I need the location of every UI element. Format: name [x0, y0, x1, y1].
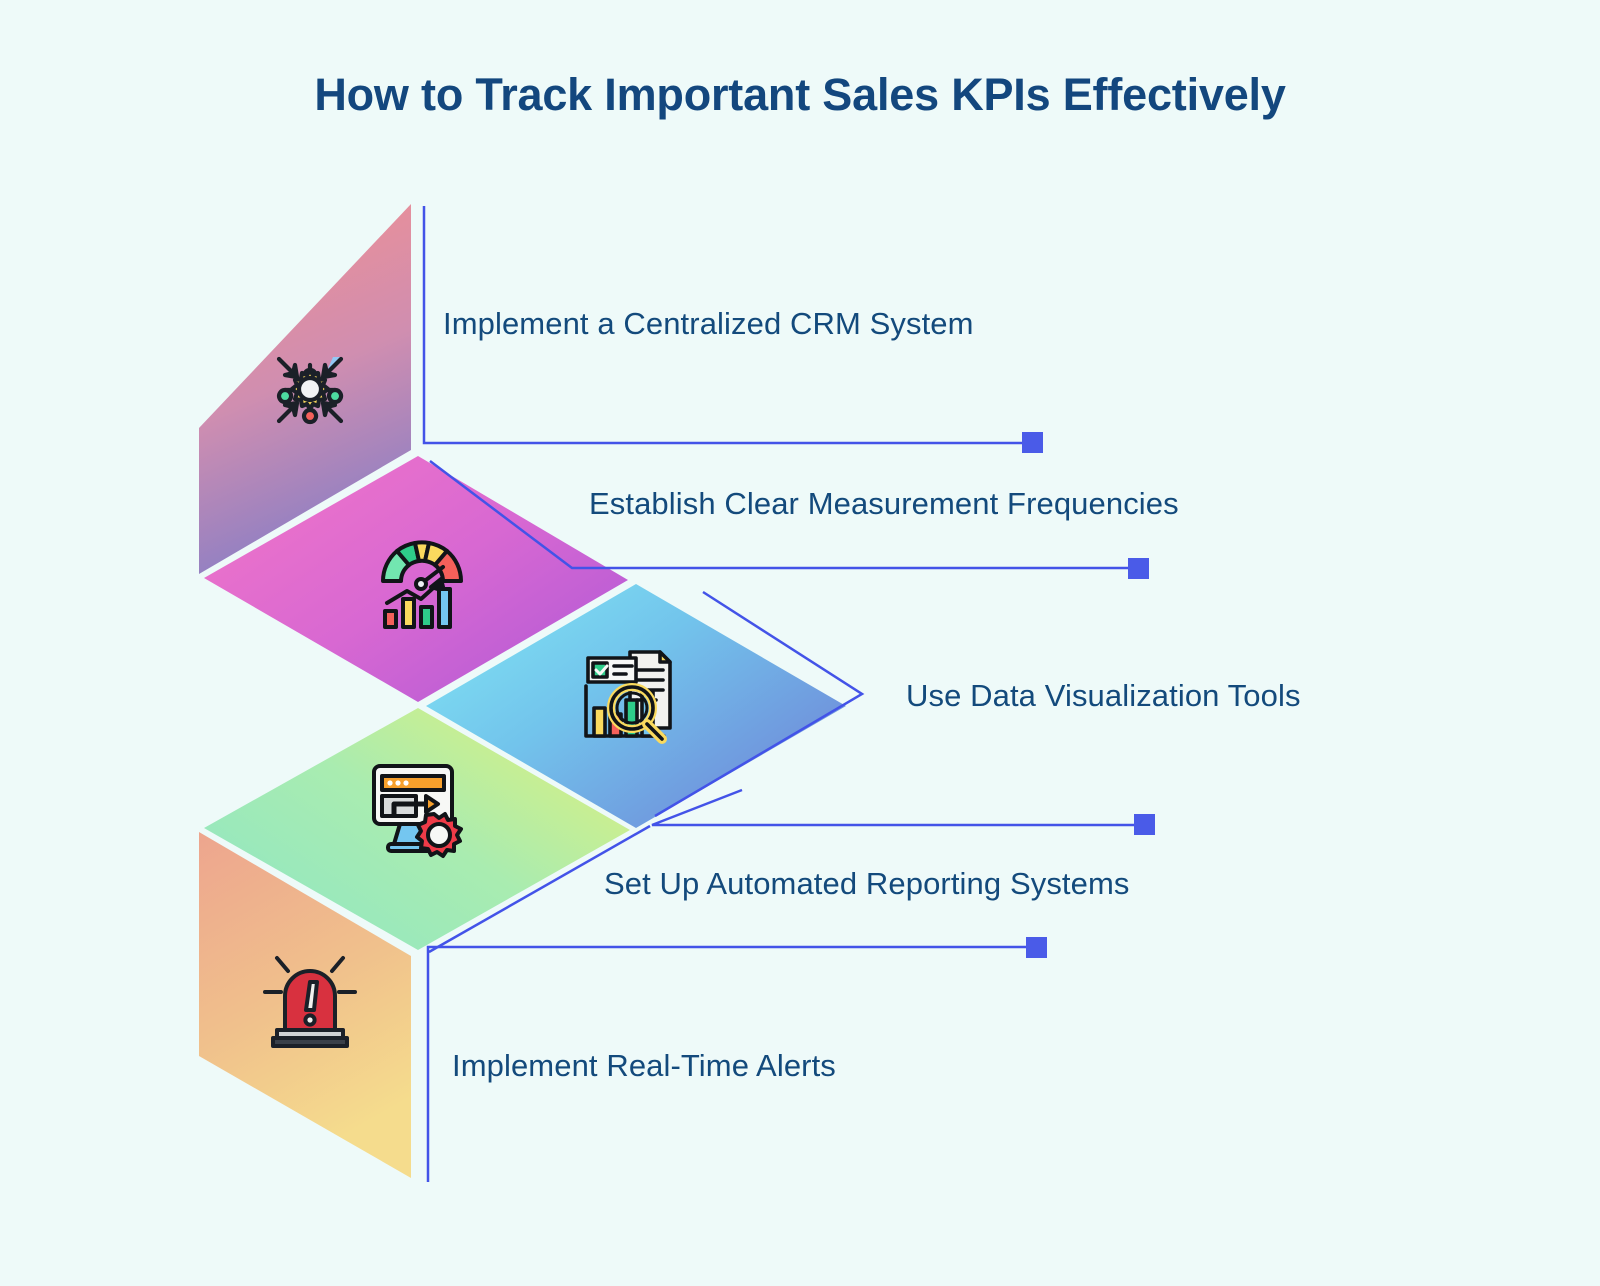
step-label-2: Establish Clear Measurement Frequencies — [589, 486, 1179, 522]
gauge-bar-chart-icon — [367, 527, 477, 637]
document-magnifier-chart-icon — [572, 642, 682, 752]
marker-square-step-4 — [1134, 814, 1155, 835]
step-label-3: Use Data Visualization Tools — [906, 678, 1301, 714]
step-label-1: Implement a Centralized CRM System — [443, 306, 974, 342]
marker-square-step-2 — [1128, 558, 1149, 579]
connector-step-4 — [652, 790, 1155, 835]
marker-square-step-5 — [1026, 937, 1047, 958]
infographic-canvas: How to Track Important Sales KPIs Effect… — [0, 0, 1600, 1286]
marker-square-step-1 — [1022, 432, 1043, 453]
monitor-gear-icon — [360, 752, 470, 862]
gear-network-icon — [255, 335, 365, 445]
chevron-flow-diagram — [0, 0, 1600, 1286]
step-label-4: Set Up Automated Reporting Systems — [604, 866, 1130, 902]
step-label-5: Implement Real-Time Alerts — [452, 1048, 836, 1084]
alarm-siren-icon — [255, 938, 365, 1048]
